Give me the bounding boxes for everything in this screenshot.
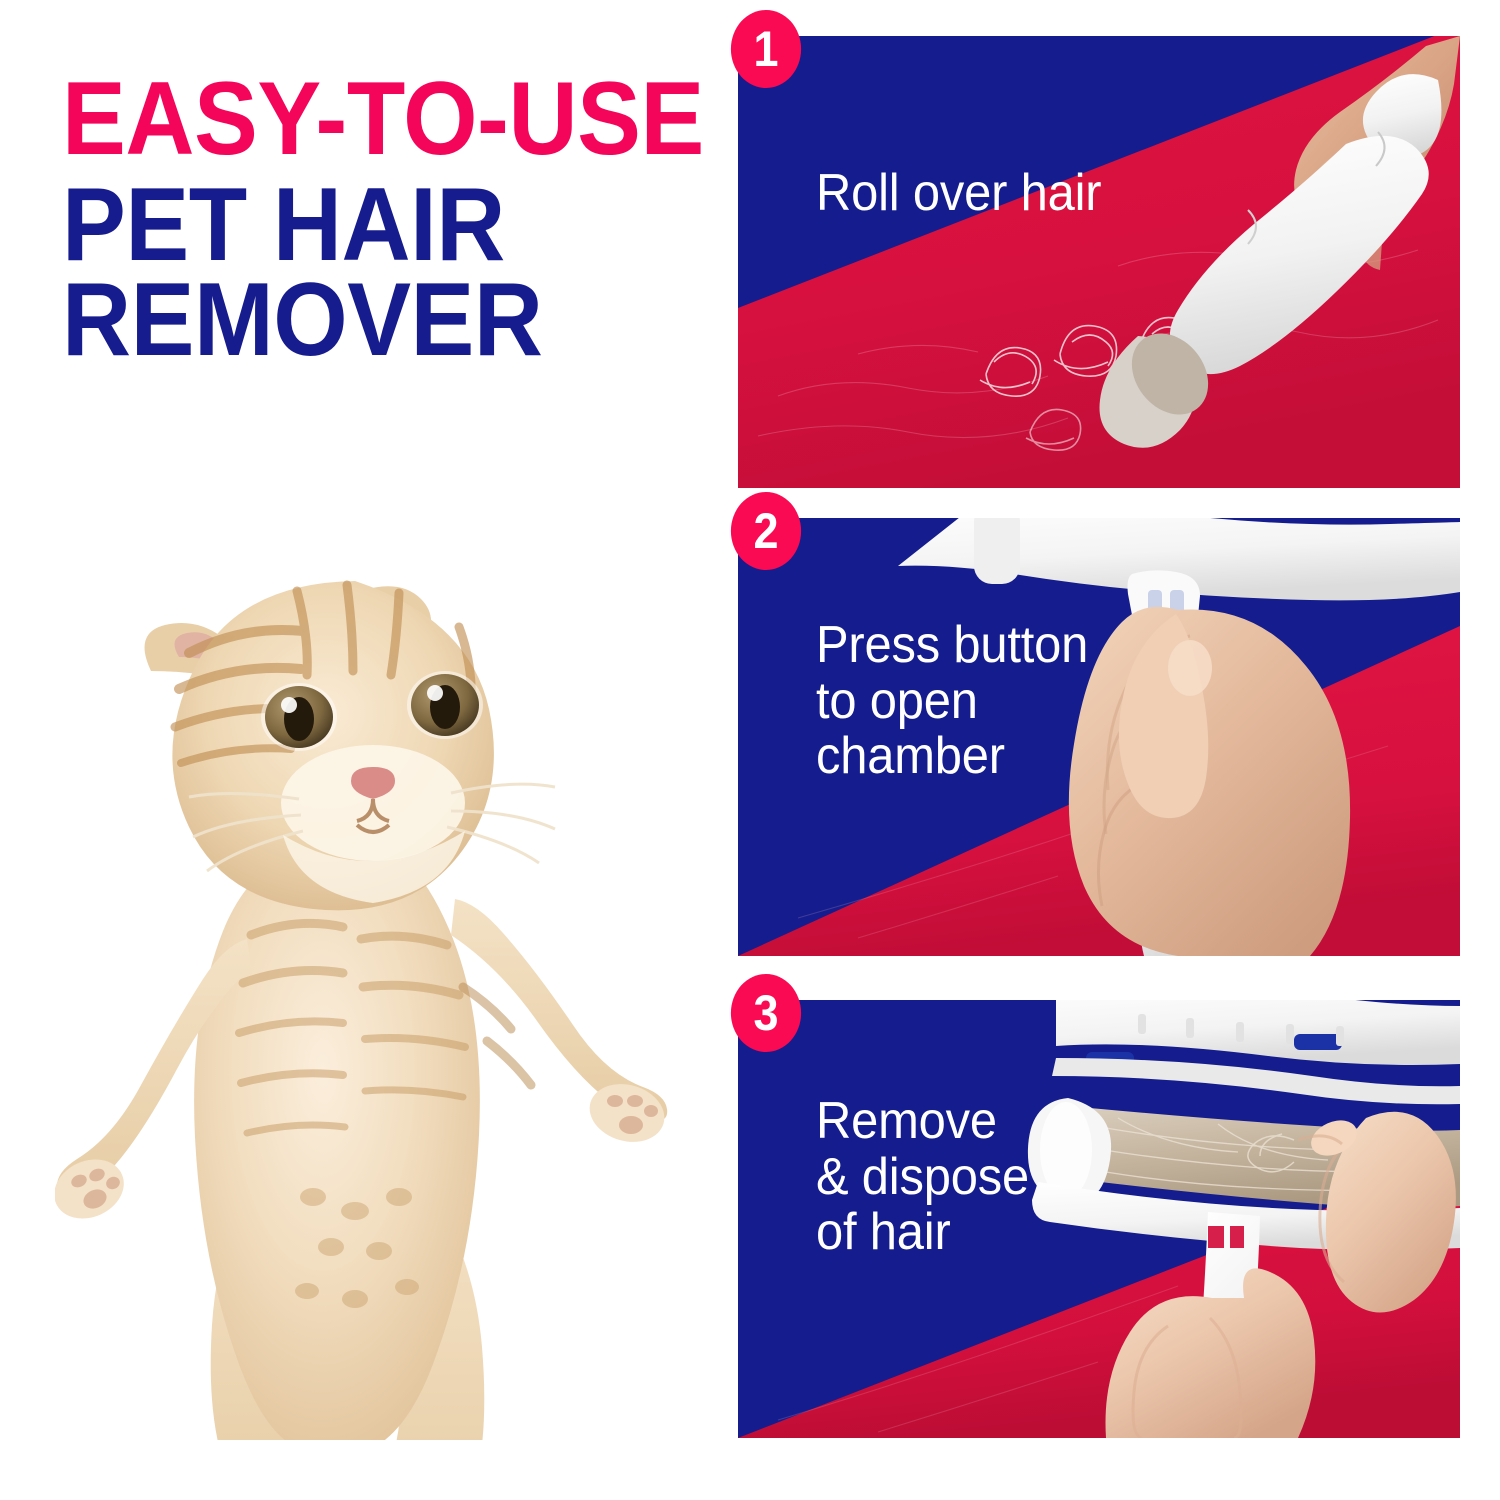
step-caption-1: Roll over hair — [816, 166, 1101, 222]
page-title: EASY-TO-USE PET HAIR REMOVER — [62, 74, 702, 367]
headline-line-pet-hair: PET HAIR — [62, 180, 651, 272]
step-number-badge-2: 2 — [731, 492, 801, 570]
step-caption-2: Press button to open chamber — [816, 618, 1088, 785]
step-number-badge-3: 3 — [731, 974, 801, 1052]
hero-kitten-image — [55, 535, 680, 1440]
step-panel-1: 1 Roll over hair — [738, 36, 1460, 488]
step-panel-3: 3 Remove & dispose of hair — [738, 1000, 1460, 1438]
step-1-image — [738, 36, 1460, 488]
headline-line-remover: REMOVER — [62, 275, 651, 367]
left-column: EASY-TO-USE PET HAIR REMOVER — [0, 0, 710, 1500]
step-panel-2: 2 Press button to open chamber — [738, 518, 1460, 956]
step-number-badge-1: 1 — [731, 10, 801, 88]
step-caption-3: Remove & dispose of hair — [816, 1094, 1029, 1261]
steps-column: 1 Roll over hair — [722, 0, 1500, 1500]
headline-line-easy-to-use: EASY-TO-USE — [62, 74, 651, 166]
